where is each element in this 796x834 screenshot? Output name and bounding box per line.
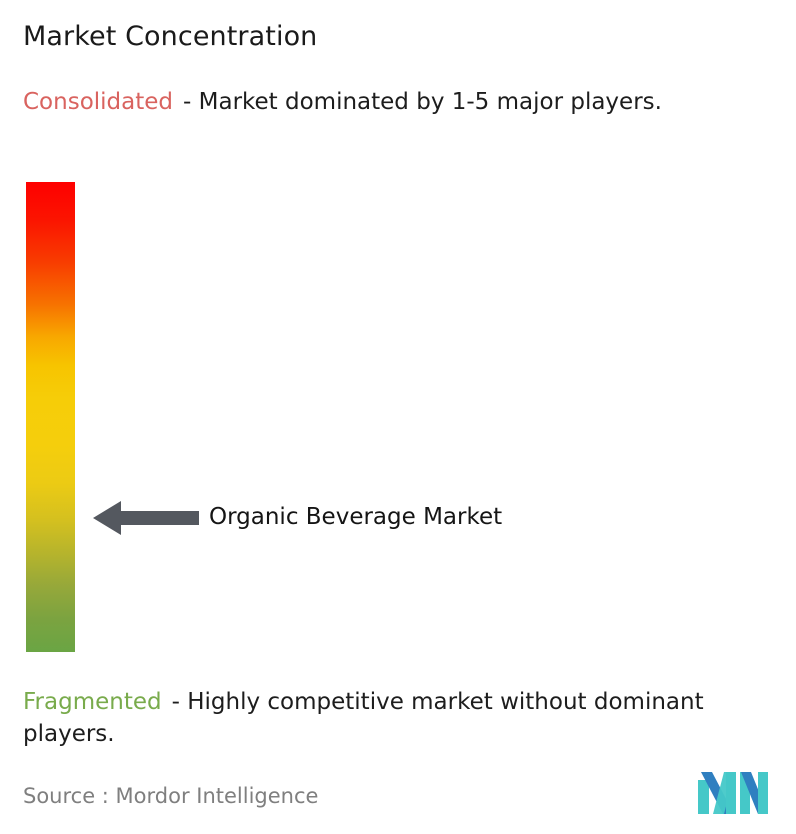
market-marker-label: Organic Beverage Market	[209, 501, 502, 533]
legend-term-fragmented: Fragmented	[23, 689, 162, 715]
left-arrow-icon	[93, 498, 199, 538]
legend-term-consolidated: Consolidated	[23, 89, 173, 115]
legend-fragmented: Fragmented- Highly competitive market wi…	[23, 686, 783, 750]
source-label: Source : Mordor Intelligence	[23, 782, 318, 810]
legend-consolidated: Consolidated- Market dominated by 1-5 ma…	[23, 86, 775, 118]
legend-description-consolidated: - Market dominated by 1-5 major players.	[183, 89, 662, 115]
source-row: Source : Mordor Intelligence	[23, 782, 775, 826]
mordor-intelligence-logo	[698, 770, 770, 814]
page-title: Market Concentration	[23, 20, 317, 54]
concentration-gradient-bar	[26, 182, 75, 652]
market-concentration-infographic: Market Concentration Consolidated- Marke…	[0, 0, 796, 834]
